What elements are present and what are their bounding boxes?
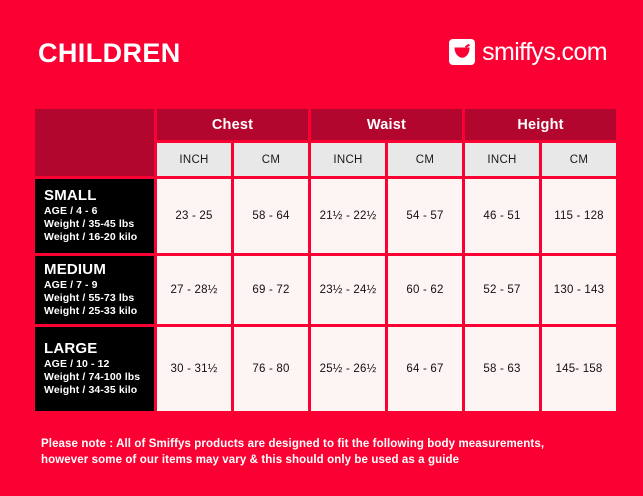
value-chest-inch: 27 - 28½	[157, 256, 231, 324]
page-title: CHILDREN	[38, 40, 181, 67]
table-row: MEDIUM AGE / 7 - 9 Weight / 55-73 lbs We…	[35, 256, 608, 324]
unit-header-height-inch: INCH	[465, 143, 539, 176]
value-height-cm: 130 - 143	[542, 256, 616, 324]
size-age: AGE / 7 - 9	[44, 279, 98, 292]
size-name: MEDIUM	[44, 262, 106, 279]
value-waist-inch: 25½ - 26½	[311, 327, 385, 411]
group-header-chest: Chest	[157, 109, 308, 140]
footer-note-line-2: however some of our items may vary & thi…	[41, 453, 611, 469]
footer-note: Please note : All of Smiffys products ar…	[41, 437, 611, 468]
value-height-inch: 58 - 63	[465, 327, 539, 411]
value-chest-cm: 69 - 72	[234, 256, 308, 324]
size-name: LARGE	[44, 341, 98, 358]
unit-header-chest-inch: INCH	[157, 143, 231, 176]
unit-header-waist-inch: INCH	[311, 143, 385, 176]
size-weight-kilo: Weight / 25-33 kilo	[44, 305, 137, 318]
value-waist-cm: 54 - 57	[388, 179, 462, 253]
value-waist-cm: 64 - 67	[388, 327, 462, 411]
size-weight-kilo: Weight / 34-35 kilo	[44, 384, 137, 397]
unit-header-waist-cm: CM	[388, 143, 462, 176]
size-label-small: SMALL AGE / 4 - 6 Weight / 35-45 lbs Wei…	[35, 179, 154, 253]
table-group-header-row: Chest Waist Height	[35, 109, 608, 140]
size-weight-lbs: Weight / 74-100 lbs	[44, 371, 140, 384]
size-label-large: LARGE AGE / 10 - 12 Weight / 74-100 lbs …	[35, 327, 154, 411]
value-chest-cm: 76 - 80	[234, 327, 308, 411]
size-chart-table: Chest Waist Height INCH CM INCH CM INCH …	[35, 109, 608, 411]
group-header-height: Height	[465, 109, 616, 140]
value-waist-inch: 23½ - 24½	[311, 256, 385, 324]
size-chart-page: CHILDREN smiffys.com Chest Waist Height …	[0, 0, 643, 496]
value-height-inch: 52 - 57	[465, 256, 539, 324]
table-row: SMALL AGE / 4 - 6 Weight / 35-45 lbs Wei…	[35, 179, 608, 253]
table-corner-cell	[35, 109, 154, 176]
page-header: CHILDREN smiffys.com	[0, 0, 643, 100]
unit-header-height-cm: CM	[542, 143, 616, 176]
value-chest-inch: 30 - 31½	[157, 327, 231, 411]
size-weight-lbs: Weight / 55-73 lbs	[44, 292, 134, 305]
group-header-waist: Waist	[311, 109, 462, 140]
value-height-cm: 145- 158	[542, 327, 616, 411]
value-chest-cm: 58 - 64	[234, 179, 308, 253]
size-age: AGE / 10 - 12	[44, 358, 110, 371]
brand-logo: smiffys.com	[449, 39, 607, 65]
value-chest-inch: 23 - 25	[157, 179, 231, 253]
size-label-medium: MEDIUM AGE / 7 - 9 Weight / 55-73 lbs We…	[35, 256, 154, 324]
value-waist-inch: 21½ - 22½	[311, 179, 385, 253]
value-height-inch: 46 - 51	[465, 179, 539, 253]
size-weight-lbs: Weight / 35-45 lbs	[44, 218, 134, 231]
size-name: SMALL	[44, 188, 97, 205]
value-waist-cm: 60 - 62	[388, 256, 462, 324]
brand-name: smiffys.com	[482, 40, 607, 65]
table-row: LARGE AGE / 10 - 12 Weight / 74-100 lbs …	[35, 327, 608, 411]
smile-mark-icon	[449, 39, 475, 65]
value-height-cm: 115 - 128	[542, 179, 616, 253]
size-weight-kilo: Weight / 16-20 kilo	[44, 231, 137, 244]
size-age: AGE / 4 - 6	[44, 205, 98, 218]
unit-header-chest-cm: CM	[234, 143, 308, 176]
footer-note-line-1: Please note : All of Smiffys products ar…	[41, 437, 611, 453]
